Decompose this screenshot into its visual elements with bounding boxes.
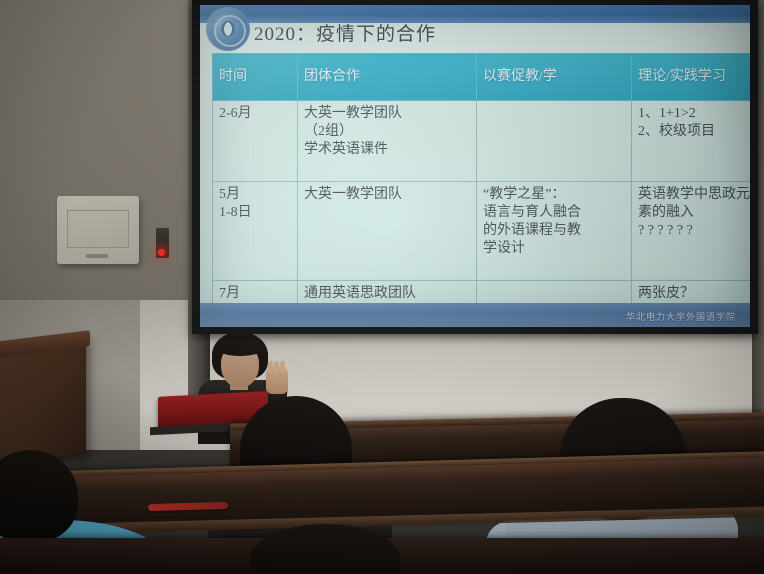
audience-hair [250,524,400,574]
column-header-competition-teaching: 以赛促教/学 [477,54,632,101]
column-header-theory-practice: 理论/实践学习 [632,54,751,101]
wall-panel-inner [67,210,129,248]
wall-control-panel [57,196,139,264]
column-header-time: 时间 [213,54,298,101]
cell-team: 大英一教学团队 （2组） 学术英语课件 [298,101,477,182]
cell-competition [477,101,632,182]
cell-time: 2-6月 [213,101,298,182]
slide-table: 时间 团体合作 以赛促教/学 理论/实践学习 2-6月 大英一教学团队 （2组）… [212,53,750,314]
audience-member-left-blue [0,450,78,542]
cell-competition: “教学之星”： 语言与育人融合 的外语课程与教 学设计 [477,182,632,281]
slide-title: 2020：疫情下的合作 [254,19,436,46]
cell-time: 5月 1-8日 [213,182,298,281]
audience-member-front-center [250,524,400,574]
lecture-hall-photo: 2020：疫情下的合作 时间 团体合作 以赛促教/学 理论/实践学习 2-6月 [0,0,764,574]
projector-screen-frame: 2020：疫情下的合作 时间 团体合作 以赛促教/学 理论/实践学习 2-6月 [192,0,758,334]
cell-theory: 英语教学中思政元 素的融入 ? ? ? ? ? ? [632,182,751,281]
presenter-raised-hand [266,366,288,394]
slide-footer-watermark: 华北电力大学外国语学院 [626,310,736,323]
table-row: 2-6月 大英一教学团队 （2组） 学术英语课件 1、1+1>2 2、校级项目 [213,101,751,182]
presentation-slide: 2020：疫情下的合作 时间 团体合作 以赛促教/学 理论/实践学习 2-6月 [200,5,750,327]
column-header-team-collaboration: 团体合作 [298,54,477,101]
table-header-row: 时间 团体合作 以赛促教/学 理论/实践学习 [213,54,751,101]
red-indicator-led [158,249,165,256]
university-seal-logo [206,7,250,51]
wall-panel-slot [86,254,108,258]
table-row: 5月 1-8日 大英一教学团队 “教学之星”： 语言与育人融合 的外语课程与教 … [213,182,751,281]
audience-hair [0,450,78,542]
projector-screen: 2020：疫情下的合作 时间 团体合作 以赛促教/学 理论/实践学习 2-6月 [200,5,750,327]
presenter-fringe [216,340,264,356]
cell-theory: 1、1+1>2 2、校级项目 [632,101,751,182]
cell-team: 大英一教学团队 [298,182,477,281]
